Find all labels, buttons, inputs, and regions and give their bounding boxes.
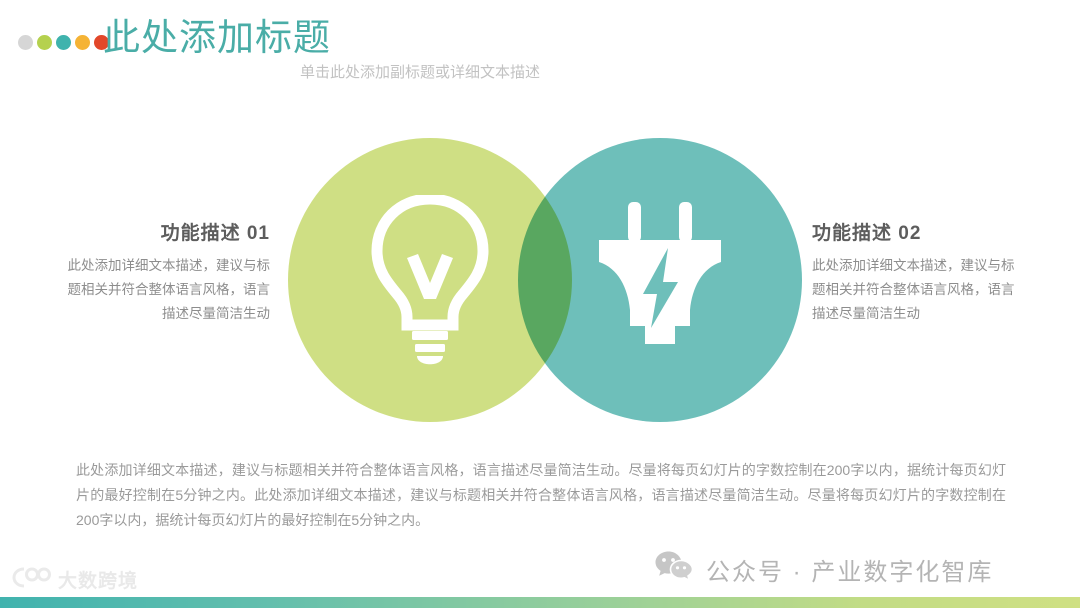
venn-circle-right xyxy=(518,138,802,422)
feature-block-01: 功能描述 01 此处添加详细文本描述，建议与标题相关并符合整体语言风格，语言描述… xyxy=(55,218,270,326)
header-dot-row xyxy=(18,35,109,50)
footer-gradient-bar xyxy=(0,597,1080,608)
feature-description-02: 此处添加详细文本描述，建议与标题相关并符合整体语言风格，语言描述尽量简洁生动 xyxy=(812,254,1027,326)
feature-description-01: 此处添加详细文本描述，建议与标题相关并符合整体语言风格，语言描述尽量简洁生动 xyxy=(55,254,270,326)
slide-canvas: 此处添加标题 单击此处添加副标题或详细文本描述 xyxy=(0,0,1080,608)
page-subtitle: 单击此处添加副标题或详细文本描述 xyxy=(300,63,540,83)
dot-gray xyxy=(18,35,33,50)
page-title: 此处添加标题 xyxy=(103,16,331,60)
feature-title-02: 功能描述 02 xyxy=(812,218,1027,245)
dot-green xyxy=(37,35,52,50)
wechat-icon xyxy=(655,550,693,588)
footer-brand-text: 公众号 · 产业数字化智库 xyxy=(706,552,993,587)
feature-block-02: 功能描述 02 此处添加详细文本描述，建议与标题相关并符合整体语言风格，语言描述… xyxy=(812,218,1027,326)
watermark-text: 大数跨境 xyxy=(58,566,138,593)
footer-brand: 公众号 · 产业数字化智库 xyxy=(655,550,993,588)
body-paragraph: 此处添加详细文本描述，建议与标题相关并符合整体语言风格，语言描述尽量简洁生动。尽… xyxy=(76,458,1006,533)
feature-title-01: 功能描述 01 xyxy=(55,218,270,245)
circles-logo-icon xyxy=(12,566,52,593)
dot-amber xyxy=(75,35,90,50)
venn-diagram xyxy=(288,138,802,424)
watermark: 大数跨境 xyxy=(12,566,138,593)
dot-teal xyxy=(56,35,71,50)
